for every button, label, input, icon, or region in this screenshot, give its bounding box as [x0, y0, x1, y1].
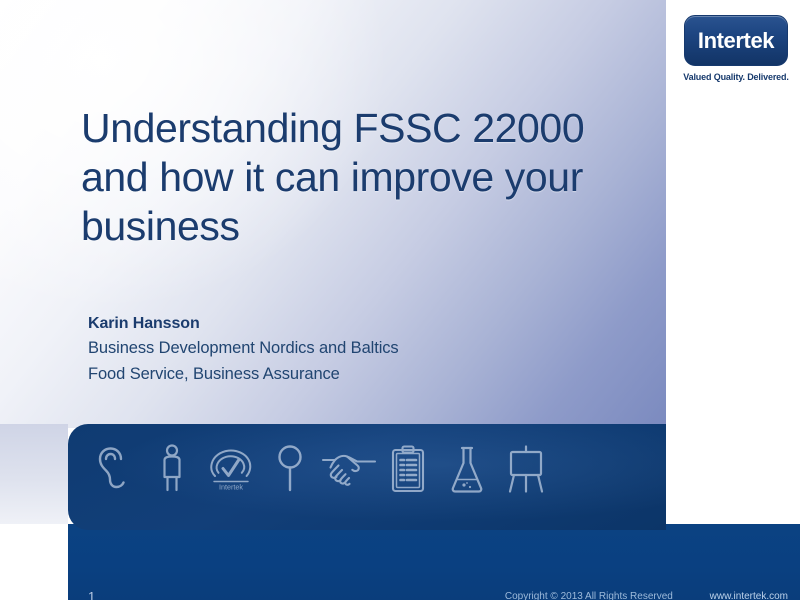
magnifying-glass-icon: [267, 440, 313, 498]
icon-strip: Intertek: [90, 440, 549, 498]
logo-wordmark: Intertek: [698, 30, 774, 52]
footer-copyright: Copyright © 2013 All Rights Reserved: [505, 591, 673, 600]
slide-title-line-1: Understanding FSSC 22000: [81, 104, 641, 153]
footer-page-number: 1: [88, 589, 95, 600]
footer-website[interactable]: www.intertek.com: [710, 591, 788, 600]
slide-title-line-2: and how it can improve your: [81, 153, 641, 202]
slide-title: Understanding FSSC 22000 and how it can …: [81, 104, 641, 251]
footer-meta: Copyright © 2013 All Rights Reserved www…: [505, 590, 788, 600]
intertek-logo-icon: Intertek: [684, 15, 788, 66]
presenter-role: Business Development Nordics and Baltics: [88, 335, 608, 361]
logo-tagline: Valued Quality. Delivered.: [672, 72, 800, 82]
left-margin-upper: [0, 424, 68, 524]
certification-caption: Intertek: [219, 483, 243, 492]
certification-checkmark-icon: Intertek: [208, 440, 254, 498]
presenter-name: Karin Hansson: [88, 313, 608, 335]
handshake-icon: [326, 440, 372, 498]
slide-bottom-band: [68, 524, 800, 600]
presentation-easel-icon: [503, 440, 549, 498]
presenter-block: Karin Hansson Business Development Nordi…: [88, 313, 608, 387]
person-standing-icon: [149, 440, 195, 498]
ear-hearing-icon: [90, 440, 136, 498]
presentation-slide: Intertek Valued Quality. Delivered. Unde…: [0, 0, 800, 600]
clipboard-checklist-icon: [385, 440, 431, 498]
presenter-department: Food Service, Business Assurance: [88, 361, 608, 387]
intertek-logo: Intertek Valued Quality. Delivered.: [672, 15, 800, 82]
laboratory-flask-icon: [444, 440, 490, 498]
icon-strip-panel: Intertek: [68, 424, 666, 530]
left-white-margin: [0, 524, 68, 600]
slide-title-line-3: business: [81, 202, 641, 251]
